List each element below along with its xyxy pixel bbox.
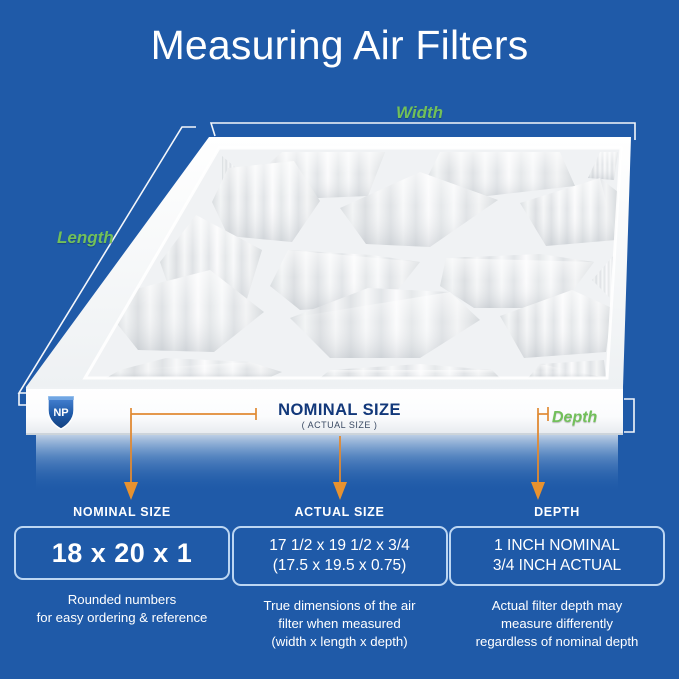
info-cards-row: NOMINAL SIZE 18 x 20 x 1 Rounded numbers… (0, 505, 679, 651)
card-value-box: 1 INCH NOMINAL 3/4 INCH ACTUAL (449, 526, 665, 586)
card-caption-line: (width x length x depth) (232, 633, 448, 651)
card-caption-line: measure differently (449, 615, 665, 633)
filter-front-face (26, 387, 623, 435)
card-value-box: 18 x 20 x 1 (14, 526, 230, 580)
card-nominal-size: NOMINAL SIZE 18 x 20 x 1 Rounded numbers… (14, 505, 230, 651)
dimension-label-length: Length (57, 228, 114, 248)
card-caption-line: True dimensions of the air (232, 597, 448, 615)
card-caption-line: Rounded numbers (14, 591, 230, 609)
card-caption-line: filter when measured (232, 615, 448, 633)
card-title: ACTUAL SIZE (232, 505, 448, 519)
svg-text:NP: NP (53, 407, 68, 419)
card-value-line: 17 1/2 x 19 1/2 x 3/4 (269, 536, 409, 556)
card-depth: DEPTH 1 INCH NOMINAL 3/4 INCH ACTUAL Act… (449, 505, 665, 651)
card-value-line: 18 x 20 x 1 (52, 538, 193, 568)
card-caption: Actual filter depth may measure differen… (449, 597, 665, 651)
dimension-label-depth: Depth (552, 409, 597, 427)
card-caption-line: for easy ordering & reference (14, 609, 230, 627)
card-value-line: 1 INCH NOMINAL (494, 536, 620, 556)
card-caption-line: Actual filter depth may (449, 597, 665, 615)
card-caption: Rounded numbers for easy ordering & refe… (14, 591, 230, 627)
dimension-label-width: Width (396, 103, 443, 123)
card-actual-size: ACTUAL SIZE 17 1/2 x 19 1/2 x 3/4 (17.5 … (232, 505, 448, 651)
card-value-line: 3/4 INCH ACTUAL (493, 556, 621, 576)
card-title: DEPTH (449, 505, 665, 519)
filter-reflection (36, 435, 618, 493)
card-title: NOMINAL SIZE (14, 505, 230, 519)
card-caption-line: regardless of nominal depth (449, 633, 665, 651)
card-value-line: (17.5 x 19.5 x 0.75) (273, 556, 407, 576)
card-value-box: 17 1/2 x 19 1/2 x 3/4 (17.5 x 19.5 x 0.7… (232, 526, 448, 586)
card-caption: True dimensions of the air filter when m… (232, 597, 448, 651)
infographic-root: Measuring Air Filters (0, 0, 679, 679)
